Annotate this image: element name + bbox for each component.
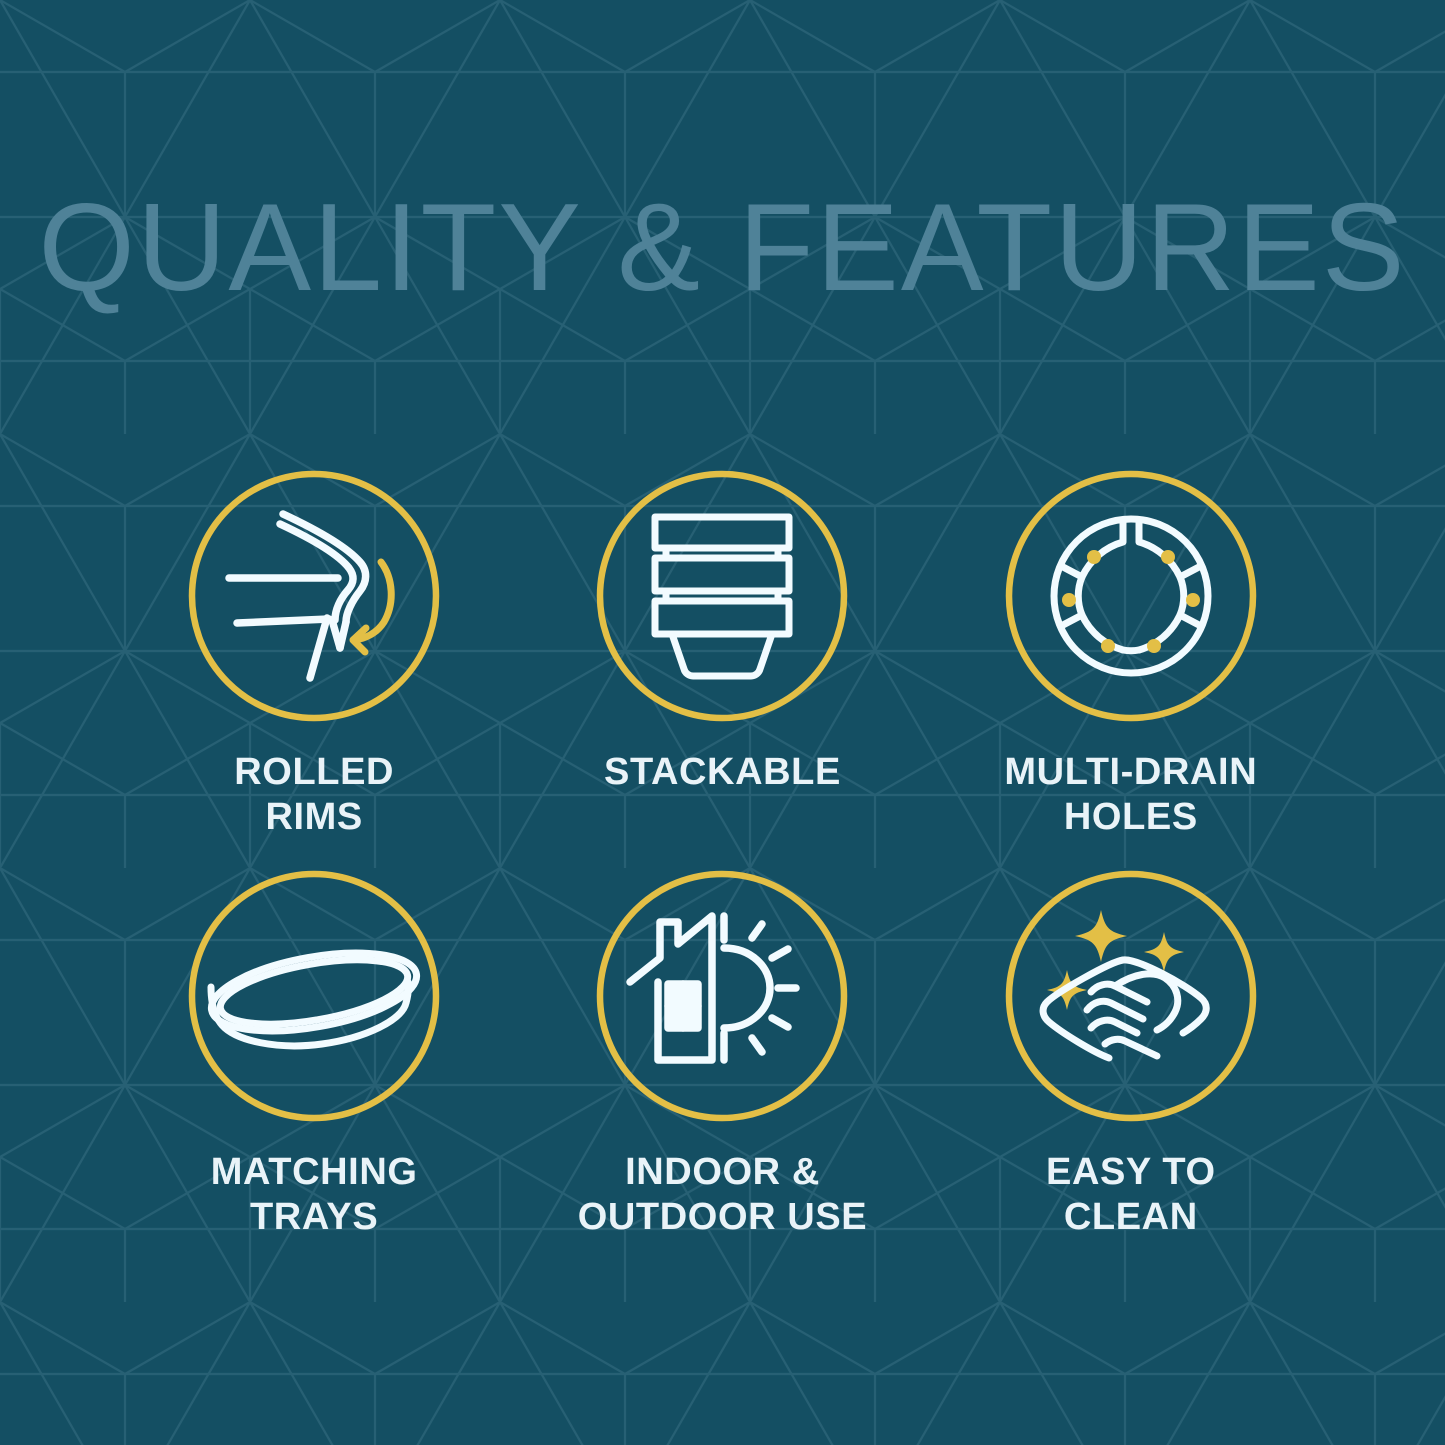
feature-rolled-rims: ROLLED RIMS bbox=[110, 470, 518, 870]
house-sun-icon bbox=[596, 870, 848, 1122]
feature-grid: ROLLED RIMS bbox=[110, 470, 1335, 1270]
feature-matching-trays: MATCHING TRAYS bbox=[110, 870, 518, 1270]
feature-easy-to-clean: EASY TO CLEAN bbox=[927, 870, 1335, 1270]
feature-label: INDOOR & OUTDOOR USE bbox=[578, 1150, 868, 1240]
feature-infographic: QUALITY & FEATURES bbox=[0, 0, 1445, 1445]
feature-label: STACKABLE bbox=[604, 750, 841, 795]
feature-label: MATCHING TRAYS bbox=[211, 1150, 418, 1240]
saucer-tray-icon bbox=[188, 870, 440, 1122]
feature-label: ROLLED RIMS bbox=[234, 750, 394, 840]
feature-stackable: STACKABLE bbox=[518, 470, 926, 870]
feature-label: MULTI-DRAIN HOLES bbox=[1004, 750, 1257, 840]
feature-label: EASY TO CLEAN bbox=[1046, 1150, 1216, 1240]
page-title: QUALITY & FEATURES bbox=[0, 186, 1445, 310]
feature-indoor-outdoor-use: INDOOR & OUTDOOR USE bbox=[518, 870, 926, 1270]
wiping-hand-sparkle-icon bbox=[1005, 870, 1257, 1122]
drain-holes-icon bbox=[1005, 470, 1257, 722]
feature-multi-drain-holes: MULTI-DRAIN HOLES bbox=[927, 470, 1335, 870]
rolled-rim-icon bbox=[188, 470, 440, 722]
stacked-pots-icon bbox=[596, 470, 848, 722]
